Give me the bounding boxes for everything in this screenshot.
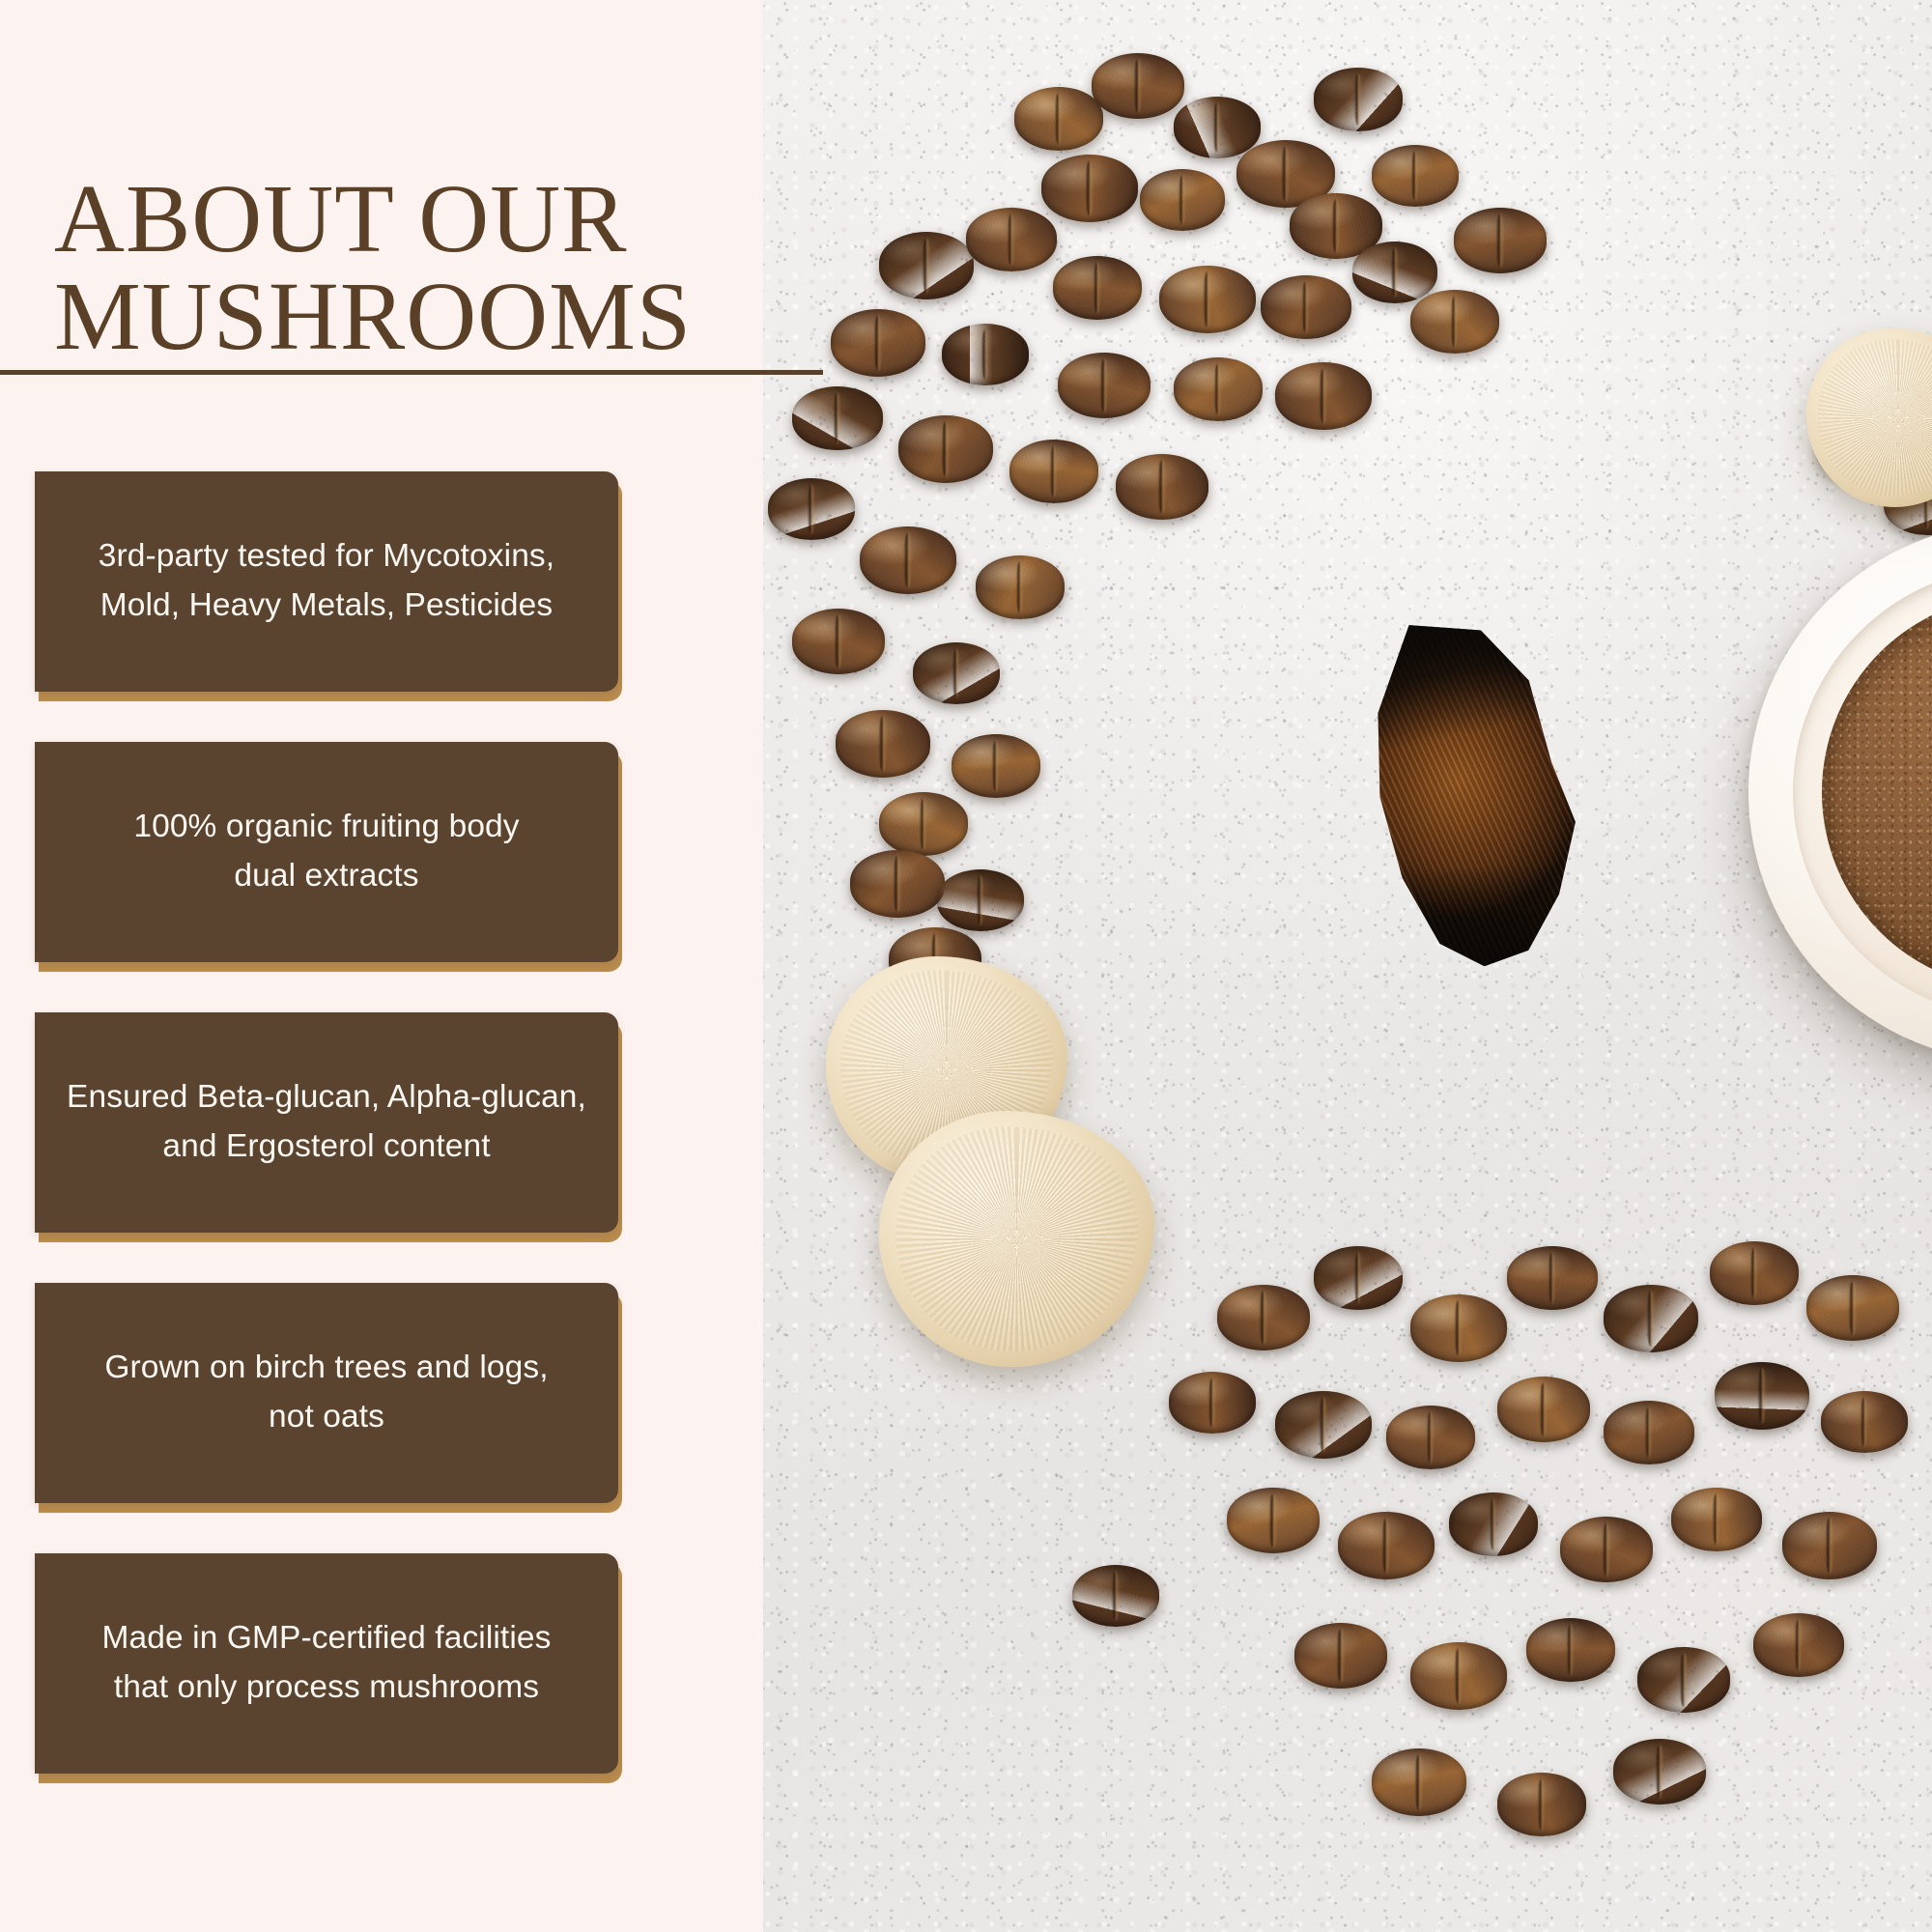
photo-grain-overlay — [734, 0, 1932, 1932]
title-divider — [0, 370, 823, 375]
feature-card-organic-fruiting-body[interactable]: 100% organic fruiting body dual extracts — [0, 742, 763, 962]
card-body: 3rd-party tested for Mycotoxins, Mold, H… — [35, 471, 618, 692]
feature-text: Grown on birch trees and logs, not oats — [81, 1344, 571, 1442]
poster-canvas: About Our Mushrooms 3rd-party tested for… — [0, 0, 1932, 1932]
feature-list: 3rd-party tested for Mycotoxins, Mold, H… — [0, 471, 763, 1824]
feature-card-gmp-certified[interactable]: Made in GMP-certified facilities that on… — [0, 1553, 763, 1774]
feature-text: 100% organic fruiting body dual extracts — [110, 803, 542, 901]
page-title: About Our Mushrooms — [54, 170, 750, 365]
feature-card-glucan-content[interactable]: Ensured Beta-glucan, Alpha-glucan, and E… — [0, 1012, 763, 1233]
feature-text: Made in GMP-certified facilities that on… — [79, 1614, 575, 1713]
card-body: Grown on birch trees and logs, not oats — [35, 1283, 618, 1503]
card-body: 100% organic fruiting body dual extracts — [35, 742, 618, 962]
card-body: Made in GMP-certified facilities that on… — [35, 1553, 618, 1774]
feature-card-third-party-tested[interactable]: 3rd-party tested for Mycotoxins, Mold, H… — [0, 471, 763, 692]
feature-card-grown-on-birch[interactable]: Grown on birch trees and logs, not oats — [0, 1283, 763, 1503]
card-body: Ensured Beta-glucan, Alpha-glucan, and E… — [35, 1012, 618, 1233]
info-panel: About Our Mushrooms 3rd-party tested for… — [0, 0, 763, 1932]
product-photo — [734, 0, 1932, 1932]
feature-text: Ensured Beta-glucan, Alpha-glucan, and E… — [43, 1073, 610, 1172]
feature-text: 3rd-party tested for Mycotoxins, Mold, H… — [75, 532, 578, 631]
